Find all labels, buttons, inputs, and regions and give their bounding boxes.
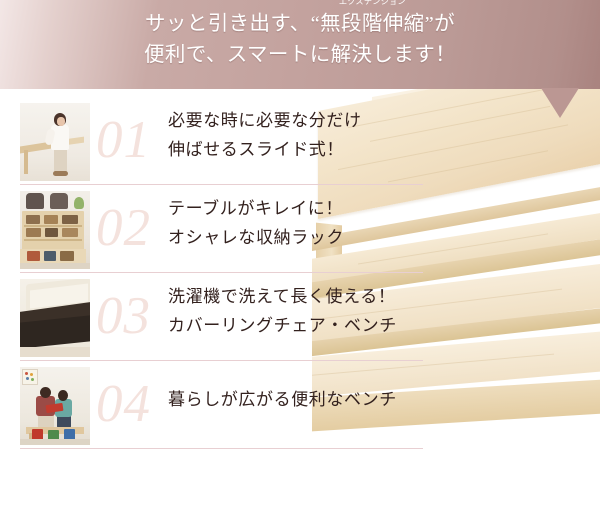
feature-text-01-line1: 必要な時に必要な分だけ bbox=[168, 106, 362, 135]
feature-divider bbox=[20, 448, 423, 449]
feature-text-03-line2: カバーリングチェア・ベンチ bbox=[168, 311, 397, 340]
header-title-line1: サッと引き出す、“エクステンション無段階伸縮”が bbox=[0, 9, 600, 40]
feature-number-01: 01 bbox=[96, 105, 151, 175]
feature-row[interactable]: 04 暮らしが広がる便利なベンチ bbox=[0, 361, 600, 449]
ruby-base-text: 無段階伸縮 bbox=[320, 13, 425, 35]
header-pointer-triangle-icon bbox=[541, 88, 579, 118]
feature-text-01-line2: 伸ばせるスライド式！ bbox=[168, 135, 362, 164]
feature-number-02: 02 bbox=[96, 193, 151, 263]
ruby-annotated-term: エクステンション無段階伸縮 bbox=[320, 9, 425, 40]
feature-row[interactable]: 03 洗濯機で洗えて長く使える！ カバーリングチェア・ベンチ bbox=[0, 273, 600, 361]
feature-list: 01 必要な時に必要な分だけ 伸ばせるスライド式！ bbox=[0, 97, 600, 449]
feature-number-04: 04 bbox=[96, 369, 151, 439]
header-banner: サッと引き出す、“エクステンション無段階伸縮”が 便利で、スマートに解決します！ bbox=[0, 0, 600, 89]
feature-text-04-line1: 暮らしが広がる便利なベンチ bbox=[168, 385, 397, 414]
feature-thumbnail-02 bbox=[20, 191, 90, 269]
header-title-line2: 便利で、スマートに解決します！ bbox=[0, 40, 600, 71]
header-title-line1-prefix: サッと引き出す、“ bbox=[145, 13, 320, 35]
advertisement-canvas: サッと引き出す、“エクステンション無段階伸縮”が 便利で、スマートに解決します！ bbox=[0, 0, 600, 515]
feature-thumbnail-04 bbox=[20, 367, 90, 445]
header-title: サッと引き出す、“エクステンション無段階伸縮”が 便利で、スマートに解決します！ bbox=[0, 9, 600, 71]
feature-row[interactable]: 01 必要な時に必要な分だけ 伸ばせるスライド式！ bbox=[0, 97, 600, 185]
feature-text-01: 必要な時に必要な分だけ 伸ばせるスライド式！ bbox=[168, 106, 362, 164]
feature-text-03: 洗濯機で洗えて長く使える！ カバーリングチェア・ベンチ bbox=[168, 282, 397, 340]
feature-thumbnail-03 bbox=[20, 279, 90, 357]
feature-text-02-line1: テーブルがキレイに！ bbox=[168, 194, 344, 223]
feature-row[interactable]: 02 テーブルがキレイに！ オシャレな収納ラック bbox=[0, 185, 600, 273]
feature-text-02-line2: オシャレな収納ラック bbox=[168, 223, 344, 252]
feature-thumbnail-01 bbox=[20, 103, 90, 181]
feature-text-03-line1: 洗濯機で洗えて長く使える！ bbox=[168, 282, 397, 311]
ruby-text: エクステンション bbox=[339, 0, 406, 6]
feature-text-04: 暮らしが広がる便利なベンチ bbox=[168, 385, 397, 414]
header-title-line1-suffix: ”が bbox=[425, 13, 455, 35]
feature-text-02: テーブルがキレイに！ オシャレな収納ラック bbox=[168, 194, 344, 252]
feature-number-03: 03 bbox=[96, 281, 151, 351]
